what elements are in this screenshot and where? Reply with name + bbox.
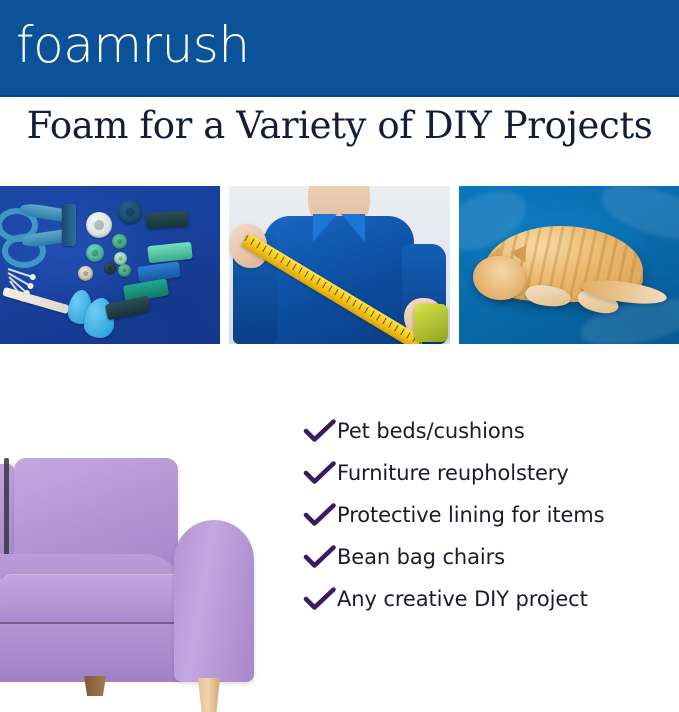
purple-sofa-illustration [0, 446, 270, 679]
list-item: Furniture reupholstery [303, 452, 673, 494]
tape-measure-case [414, 304, 448, 342]
list-item: Bean bag chairs [303, 536, 673, 578]
photo-strip [0, 186, 679, 344]
shirt-collar-right [341, 214, 365, 242]
list-item-label: Pet beds/cushions [337, 419, 525, 443]
check-icon [303, 418, 337, 444]
list-item-label: Any creative DIY project [337, 587, 588, 611]
tape-measure-photo [229, 186, 449, 344]
list-item-label: Protective lining for items [337, 503, 604, 527]
button-green [112, 234, 127, 249]
page-title: Foam for a Variety of DIY Projects [0, 104, 679, 147]
sofa-seat-cushion-right [2, 574, 186, 628]
list-item: Pet beds/cushions [303, 410, 673, 452]
sofa-base [0, 624, 188, 682]
sewing-supplies-photo [0, 186, 220, 344]
sofa-rolled-arm [174, 520, 254, 682]
cat-head [473, 256, 525, 300]
benefits-list: Pet beds/cushions Furniture reupholstery… [303, 410, 673, 620]
sofa-leg-back [84, 676, 106, 696]
thread-spool [145, 211, 188, 230]
check-icon [303, 586, 337, 612]
button-small-green [118, 264, 131, 277]
thread-spool [62, 204, 76, 246]
cat-on-beanbag-photo [459, 186, 679, 344]
list-item-label: Bean bag chairs [337, 545, 505, 569]
button-navy [118, 200, 142, 224]
list-item: Any creative DIY project [303, 578, 673, 620]
check-icon [303, 502, 337, 528]
button-dark [104, 262, 116, 274]
list-item: Protective lining for items [303, 494, 673, 536]
list-item-label: Furniture reupholstery [337, 461, 569, 485]
check-icon [303, 544, 337, 570]
shirt-collar-left [313, 214, 337, 242]
brand-banner: foamrush [0, 0, 679, 97]
button-large-white [86, 212, 112, 238]
brand-logo[interactable]: foamrush [16, 20, 250, 70]
sofa-leg-front [198, 678, 220, 712]
button-cream [78, 266, 93, 281]
button-teal [86, 244, 104, 262]
check-icon [303, 460, 337, 486]
